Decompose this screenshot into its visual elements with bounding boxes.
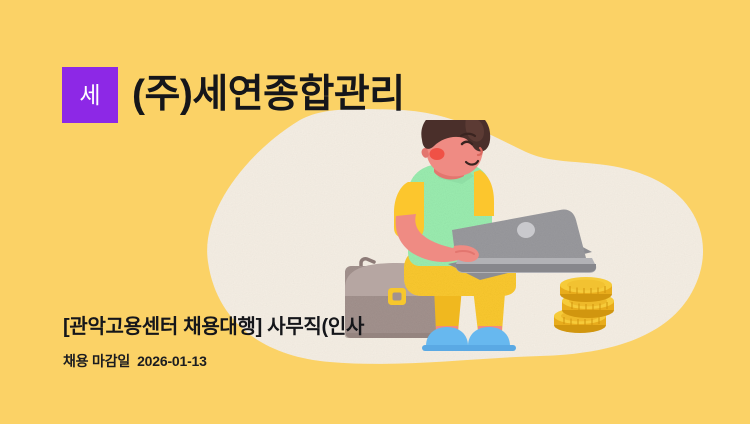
company-logo-badge: 세 [62,67,118,123]
job-posting-card: 세 (주)세연종합관리 [0,0,750,424]
job-title: [관악고용센터 채용대행] 사무직(인사 [63,315,364,339]
header: 세 (주)세연종합관리 [62,67,405,123]
footer: [관악고용센터 채용대행] 사무직(인사 채용 마감일2026-01-13 [63,315,364,370]
coin-stack-icon [548,272,620,336]
deadline-row: 채용 마감일2026-01-13 [63,353,364,370]
company-logo-initial: 세 [79,84,100,107]
company-name: (주)세연종합관리 [132,75,405,116]
deadline-date: 2026-01-13 [137,353,207,369]
deadline-label: 채용 마감일 [63,353,130,369]
